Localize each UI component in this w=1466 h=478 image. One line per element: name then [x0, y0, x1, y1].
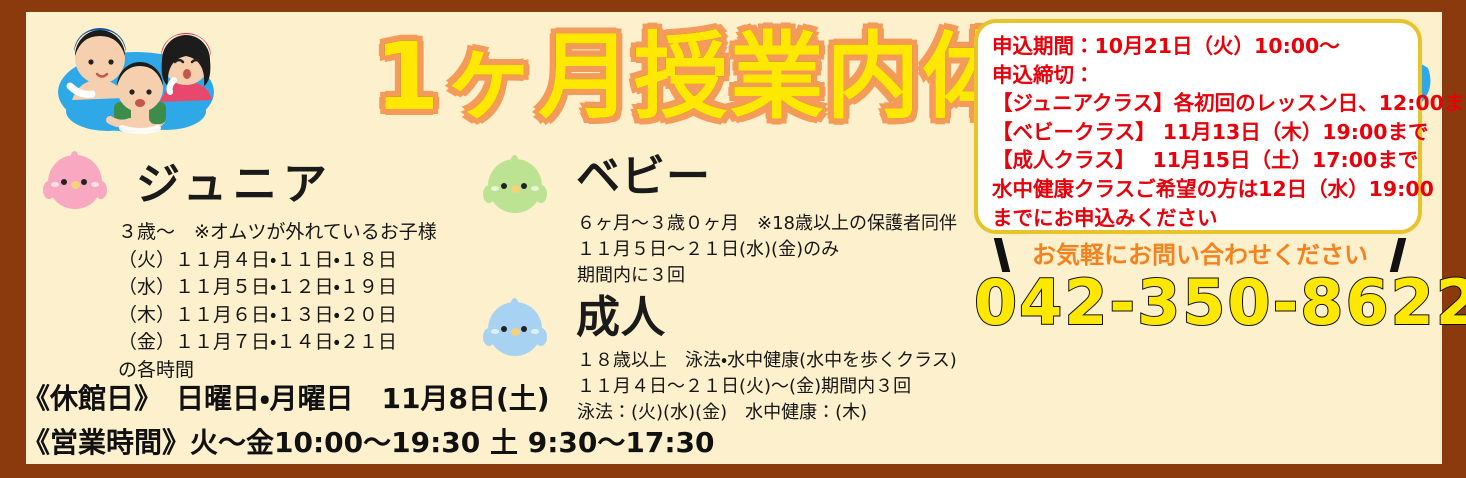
junior-line: （金）１１月７日・１４日・２１日: [118, 329, 437, 357]
application-line: 申込期間：10月21日（火）10:00～: [992, 32, 1418, 61]
family-swimming-illustration: [48, 16, 218, 138]
junior-heading: ジュニア: [136, 162, 333, 208]
junior-mascot-icon: [44, 155, 106, 215]
adult-line: 泳法：(火)(水)(金) 水中健康：(木): [577, 400, 957, 426]
junior-line: （木）１１月６日・１３日・２０日: [118, 302, 437, 330]
junior-details: ３歳～ ※オムツが外れているお子様 （火）１１月４日・１１日・１８日 （水）１１…: [118, 219, 437, 384]
application-line: 【ジュニアクラス】各初回のレッスン日、12:00まで: [992, 89, 1418, 118]
baby-heading: ベビー: [576, 154, 711, 200]
junior-line: （水）１１月５日・１２日・１９日: [118, 274, 437, 302]
junior-line: の各時間: [118, 357, 437, 385]
closed-days-notice: 《休館日》 日曜日・月曜日 11月8日(土): [22, 382, 550, 416]
adult-line: １１月４日～２１日(火)～(金)期間内３回: [577, 374, 957, 400]
application-line: 申込締切：: [992, 61, 1418, 90]
baby-line: ６ヶ月～３歳０ヶ月 ※18歳以上の保護者同伴: [577, 211, 957, 237]
application-info-box: 申込期間：10月21日（火）10:00～ 申込締切： 【ジュニアクラス】各初回の…: [974, 19, 1422, 234]
adult-details: １８歳以上 泳法・水中健康(水中を歩くクラス) １１月４日～２１日(火)～(金)…: [577, 348, 957, 426]
adult-mascot-icon: [484, 302, 546, 362]
promo-poster: 1ヶ月授業内体験 ジュニア ３歳～ ※オムツが外れているお子様 （火）１１月４日…: [0, 0, 1466, 478]
junior-line: （火）１１月４日・１１日・１８日: [118, 247, 437, 275]
baby-details: ６ヶ月～３歳０ヶ月 ※18歳以上の保護者同伴 １１月５日～２１日(水)(金)のみ…: [577, 211, 957, 289]
baby-line: １１月５日～２１日(水)(金)のみ: [577, 237, 957, 263]
application-line: 【成人クラス】 11月15日（土）17:00まで: [992, 146, 1418, 175]
contact-block: お気軽にお問い合わせください 042-350-8622: [974, 240, 1426, 352]
business-hours-notice: 《営業時間》火～金10:00～19:30 土 9:30～17:30: [22, 426, 715, 460]
baby-line: 期間内に３回: [577, 263, 957, 289]
adult-line: １８歳以上 泳法・水中健康(水中を歩くクラス): [577, 348, 957, 374]
adult-heading: 成人: [576, 295, 666, 341]
phone-number[interactable]: 042-350-8622: [974, 268, 1426, 338]
baby-mascot-icon: [484, 159, 546, 219]
application-line: までにお申込みください: [992, 204, 1418, 233]
junior-line: ３歳～ ※オムツが外れているお子様: [118, 219, 437, 247]
application-line: 【ベビークラス】 11月13日（木）19:00まで: [992, 118, 1418, 147]
application-line: 水中健康クラスご希望の方は12日（水）19:00: [992, 175, 1418, 204]
